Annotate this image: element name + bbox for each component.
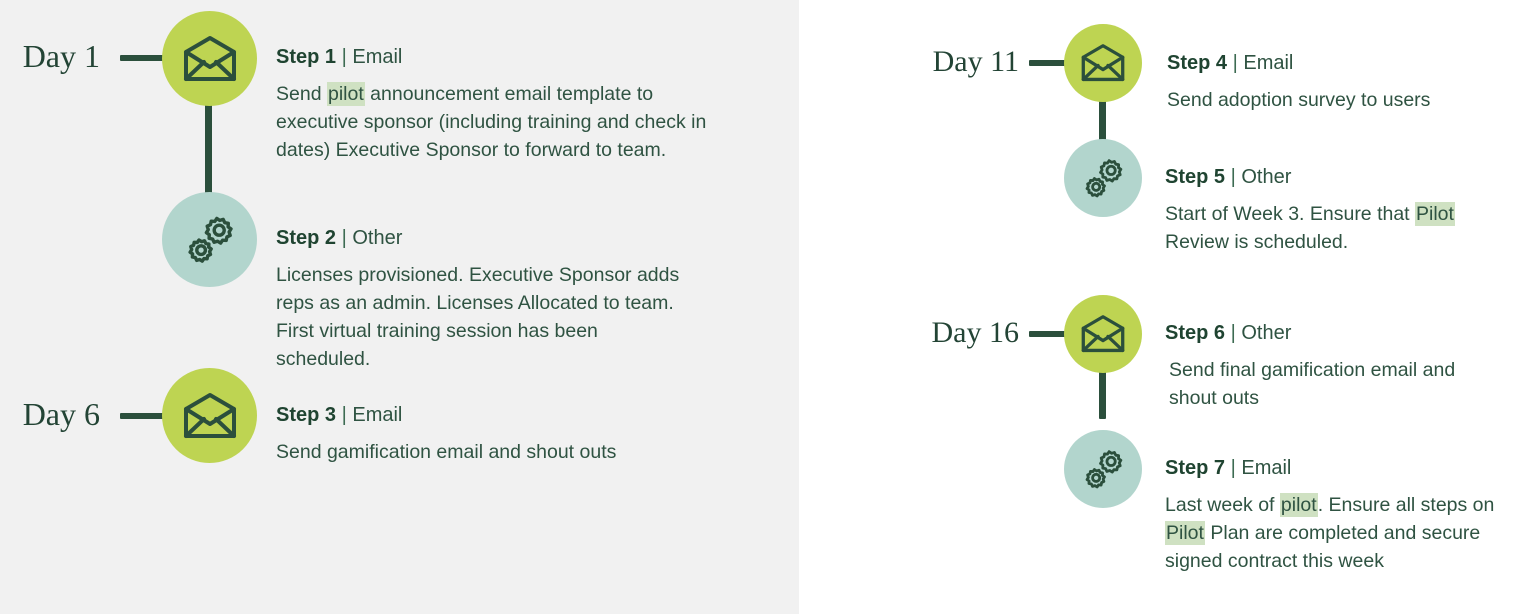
timeline-panel-right: Day 11 <box>799 0 1518 614</box>
step-kind-1: Email <box>352 46 402 68</box>
step-block-5: Step 5 | Other Start of Week 3. Ensure t… <box>1165 166 1501 256</box>
step-body-4: Send adoption survey to users <box>1167 86 1497 114</box>
node-step-3[interactable] <box>162 368 257 463</box>
day-label-1: Day 1 <box>0 40 100 72</box>
node-step-1[interactable] <box>162 11 257 106</box>
node-step-4[interactable] <box>1064 24 1142 102</box>
open-envelope-icon <box>1080 43 1126 83</box>
highlighted-term: pilot <box>327 82 365 106</box>
step-number-5: Step 5 <box>1165 166 1225 188</box>
step-number-2: Step 2 <box>276 227 336 249</box>
step-heading-1: Step 1 | Email <box>276 46 736 69</box>
step-separator-2: | <box>342 227 347 249</box>
step-heading-7: Step 7 | Email <box>1165 457 1509 480</box>
node-step-2[interactable] <box>162 192 257 287</box>
step-separator-3: | <box>342 404 347 426</box>
step-heading-5: Step 5 | Other <box>1165 166 1501 189</box>
step-body-1: Send pilot announcement email template t… <box>276 80 736 164</box>
step-block-2: Step 2 | Other Licenses provisioned. Exe… <box>276 227 696 373</box>
step-number-4: Step 4 <box>1167 52 1227 74</box>
node-step-5[interactable] <box>1064 139 1142 217</box>
step-block-7: Step 7 | Email Last week of pilot. Ensur… <box>1165 457 1509 575</box>
step-number-7: Step 7 <box>1165 457 1225 479</box>
highlighted-term: Pilot <box>1415 202 1455 226</box>
step-block-6: Step 6 | Other Send final gamification e… <box>1165 322 1499 412</box>
step-heading-4: Step 4 | Email <box>1167 52 1497 75</box>
step-block-3: Step 3 | Email Send gamification email a… <box>276 404 736 466</box>
step-kind-3: Email <box>352 404 402 426</box>
step-body-2: Licenses provisioned. Executive Sponsor … <box>276 261 696 373</box>
day-label-2: Day 6 <box>0 398 100 430</box>
step-separator-6: | <box>1231 322 1236 344</box>
step-body-5: Start of Week 3. Ensure that Pilot Revie… <box>1165 200 1501 256</box>
step-body-7: Last week of pilot. Ensure all steps on … <box>1165 491 1509 575</box>
step-number-3: Step 3 <box>276 404 336 426</box>
step-kind-6: Other <box>1241 322 1291 344</box>
step-separator-5: | <box>1231 166 1236 188</box>
step-separator-7: | <box>1231 457 1236 479</box>
gears-icon <box>184 214 236 266</box>
step-heading-6: Step 6 | Other <box>1165 322 1499 345</box>
gears-icon <box>1082 157 1125 200</box>
step-separator-4: | <box>1233 52 1238 74</box>
day-label-3: Day 11 <box>899 47 1019 77</box>
day-label-4: Day 16 <box>899 318 1019 348</box>
node-step-7[interactable] <box>1064 430 1142 508</box>
step-block-4: Step 4 | Email Send adoption survey to u… <box>1167 52 1497 114</box>
step-kind-2: Other <box>352 227 402 249</box>
step-kind-5: Other <box>1241 166 1291 188</box>
open-envelope-icon <box>182 392 238 440</box>
open-envelope-icon <box>182 35 238 83</box>
timeline-diagram: Day 1 <box>0 0 1518 614</box>
step-kind-4: Email <box>1243 52 1293 74</box>
step-heading-3: Step 3 | Email <box>276 404 736 427</box>
highlighted-term: pilot <box>1280 493 1318 517</box>
step-kind-7: Email <box>1241 457 1291 479</box>
step-number-1: Step 1 <box>276 46 336 68</box>
step-heading-2: Step 2 | Other <box>276 227 696 250</box>
gears-icon <box>1082 448 1125 491</box>
step-separator-1: | <box>342 46 347 68</box>
highlighted-term: Pilot <box>1165 521 1205 545</box>
step-number-6: Step 6 <box>1165 322 1225 344</box>
node-connector-3 <box>1099 371 1106 419</box>
timeline-panel-left: Day 1 <box>0 0 799 614</box>
open-envelope-icon <box>1080 314 1126 354</box>
step-body-6: Send final gamification email and shout … <box>1169 356 1499 412</box>
node-step-6[interactable] <box>1064 295 1142 373</box>
step-body-3: Send gamification email and shout outs <box>276 438 736 466</box>
step-block-1: Step 1 | Email Send pilot announcement e… <box>276 46 736 164</box>
